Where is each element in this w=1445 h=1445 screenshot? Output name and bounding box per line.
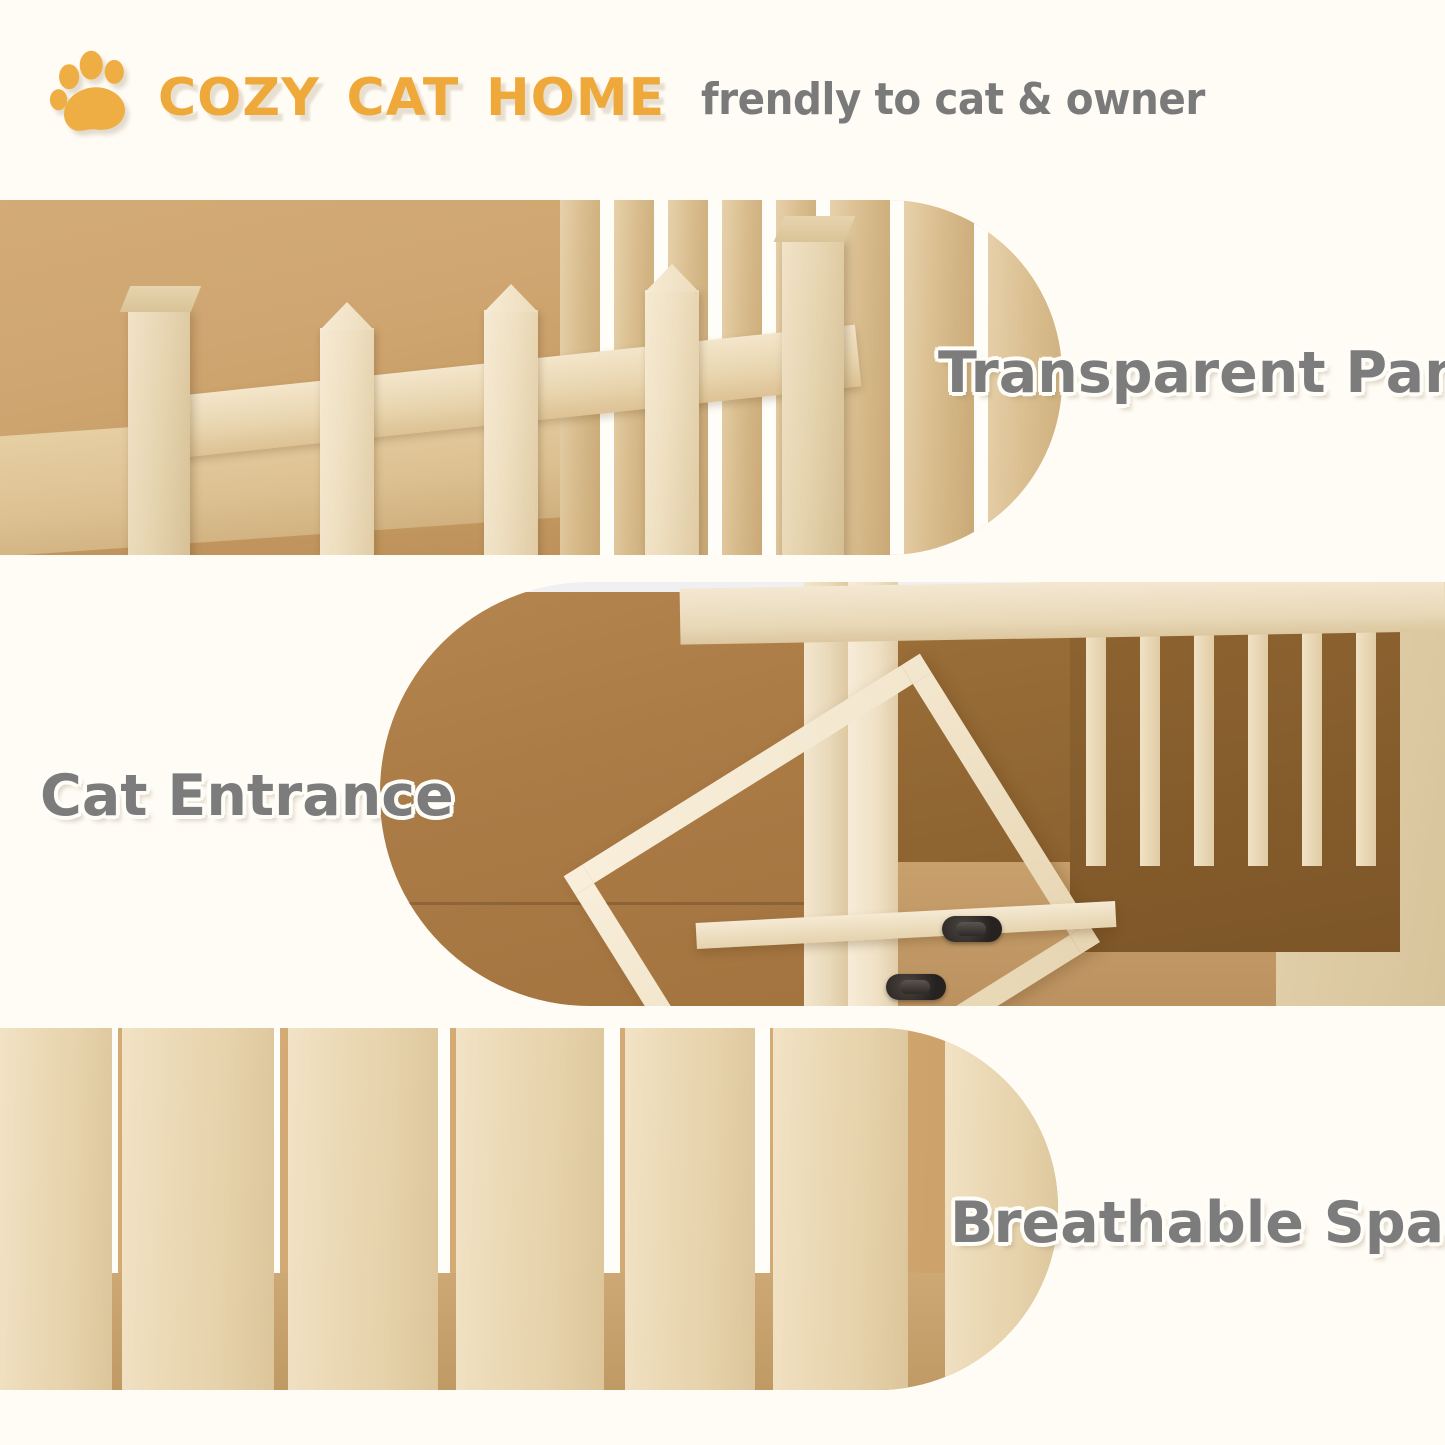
page-header: Cozy Cat Home frendly to cat & owner bbox=[0, 0, 1445, 180]
door-bar bbox=[1194, 616, 1214, 866]
ventilation-slat bbox=[456, 1028, 604, 1390]
ventilation-gap bbox=[604, 1028, 620, 1273]
ventilation-slat bbox=[625, 1028, 755, 1390]
fence-picket bbox=[484, 310, 538, 555]
fence-post bbox=[782, 238, 844, 555]
fence-picket bbox=[645, 290, 699, 555]
ventilation-slat bbox=[122, 1028, 274, 1390]
feature-image-breathable-space bbox=[0, 1028, 1058, 1390]
feature-image-transparent-panel bbox=[0, 200, 1062, 555]
ventilation-slat bbox=[288, 1028, 438, 1390]
door-bar bbox=[1086, 616, 1106, 866]
fence-picket bbox=[320, 328, 374, 555]
photo-scene-cat-entrance bbox=[380, 582, 1445, 1006]
brand-title: Cozy Cat Home bbox=[158, 53, 665, 127]
feature-label-breathable-space: Breathable Space bbox=[950, 1190, 1445, 1256]
ventilation-slat bbox=[0, 1028, 112, 1390]
magnetic-latch-icon bbox=[886, 974, 946, 1000]
door-bar bbox=[1356, 616, 1376, 866]
feature-label-transparent-panel: Transparent Panel bbox=[938, 340, 1445, 406]
inner-door-opening bbox=[1070, 612, 1400, 952]
ventilation-slat bbox=[773, 1028, 908, 1390]
door-bar bbox=[1140, 616, 1160, 866]
slat-gap bbox=[890, 200, 904, 555]
brand-tagline: frendly to cat & owner bbox=[701, 74, 1205, 125]
fence-post bbox=[128, 308, 190, 555]
photo-scene-breathable-space bbox=[0, 1028, 1058, 1390]
magnetic-latch-icon bbox=[942, 916, 1002, 942]
door-bar bbox=[1248, 616, 1268, 866]
paw-icon bbox=[48, 45, 144, 141]
feature-label-cat-entrance: Cat Entrance bbox=[40, 763, 454, 829]
photo-scene-transparent-panel bbox=[0, 200, 1062, 555]
feature-image-cat-entrance bbox=[380, 582, 1445, 1006]
door-bar bbox=[1302, 616, 1322, 866]
